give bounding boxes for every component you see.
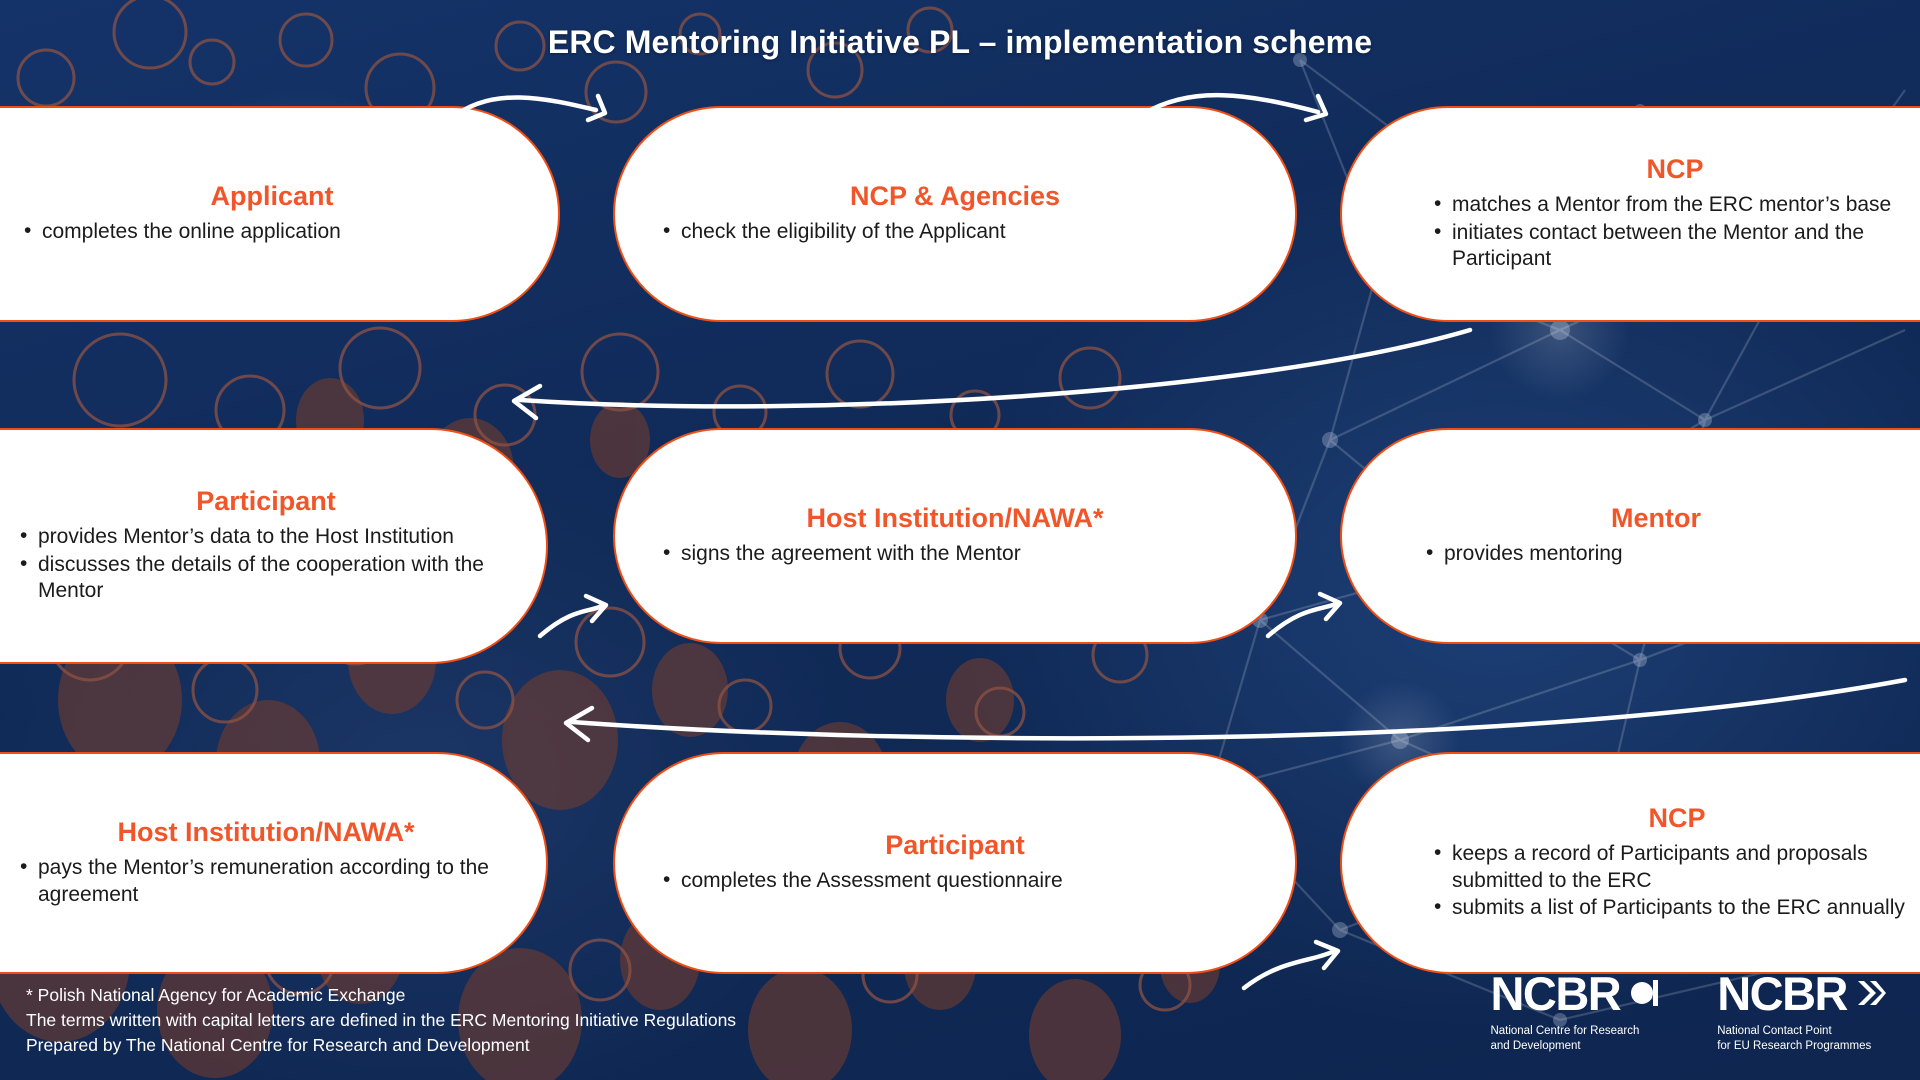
card-applicant[interactable]: Applicant completes the online applicati…: [0, 106, 560, 322]
card-ncp-record[interactable]: NCP keeps a record of Participants and p…: [1340, 752, 1920, 974]
card-heading: NCP: [1430, 803, 1920, 834]
card-bullets: signs the agreement with the Mentor: [659, 540, 1251, 569]
card-bullets: matches a Mentor from the ERC mentor’s b…: [1430, 191, 1920, 275]
card-heading: NCP & Agencies: [659, 181, 1251, 212]
bullet-item: check the eligibility of the Applicant: [659, 219, 1251, 246]
bullet-item: initiates contact between the Mentor and…: [1430, 220, 1920, 274]
wordmark: NCBR: [1717, 970, 1886, 1017]
logo-group: NCBR National Centre for Research and De…: [1490, 970, 1886, 1054]
bullet-item: matches a Mentor from the ERC mentor’s b…: [1430, 192, 1920, 219]
card-heading: Mentor: [1422, 503, 1890, 534]
bullet-item: completes the online application: [20, 219, 524, 246]
bullet-item: keeps a record of Participants and propo…: [1430, 841, 1920, 895]
logo-subtitle-line: for EU Research Programmes: [1717, 1039, 1886, 1054]
card-heading: NCP: [1430, 154, 1920, 185]
logo-ncbr-ncrd: NCBR National Centre for Research and De…: [1490, 970, 1659, 1054]
page-title: ERC Mentoring Initiative PL – implementa…: [0, 24, 1920, 61]
slide-canvas: ERC Mentoring Initiative PL – implementa…: [0, 0, 1920, 1080]
bullet-item: provides mentoring: [1422, 541, 1890, 568]
card-host-institution-pays[interactable]: Host Institution/NAWA* pays the Mentor’s…: [0, 752, 548, 974]
card-heading: Participant: [659, 830, 1251, 861]
footer-line: * Polish National Agency for Academic Ex…: [26, 983, 736, 1008]
bullet-item: signs the agreement with the Mentor: [659, 541, 1251, 568]
bullet-item: completes the Assessment questionnaire: [659, 868, 1251, 895]
logo-ncbr-ncp: NCBR National Contact Point for EU Resea…: [1717, 970, 1886, 1054]
logo-subtitle-line: and Development: [1490, 1039, 1659, 1054]
card-bullets: completes the online application: [20, 218, 524, 247]
logo-subtitle: National Contact Point for EU Research P…: [1717, 1024, 1886, 1054]
footer-line: The terms written with capital letters a…: [26, 1008, 736, 1033]
card-heading: Participant: [16, 486, 516, 517]
card-heading: Applicant: [20, 181, 524, 212]
card-bullets: keeps a record of Participants and propo…: [1430, 840, 1920, 924]
chevrons-icon: [1856, 976, 1886, 1010]
card-mentor[interactable]: Mentor provides mentoring: [1340, 428, 1920, 644]
card-participant-assessment[interactable]: Participant completes the Assessment que…: [613, 752, 1297, 974]
footer-notes: * Polish National Agency for Academic Ex…: [26, 983, 736, 1058]
bullet-item: submits a list of Participants to the ER…: [1430, 895, 1920, 922]
card-bullets: completes the Assessment questionnaire: [659, 867, 1251, 896]
card-host-institution-signs[interactable]: Host Institution/NAWA* signs the agreeme…: [613, 428, 1297, 644]
logo-subtitle-line: National Centre for Research: [1490, 1024, 1659, 1039]
bullet-item: discusses the details of the cooperation…: [16, 552, 516, 606]
logo-wordmark-text: NCBR: [1717, 970, 1847, 1017]
footer-line: Prepared by The National Centre for Rese…: [26, 1033, 736, 1058]
logo-subtitle-line: National Contact Point: [1717, 1024, 1886, 1039]
card-bullets: provides mentoring: [1422, 540, 1890, 569]
logo-subtitle: National Centre for Research and Develop…: [1490, 1024, 1659, 1054]
card-ncp-agencies[interactable]: NCP & Agencies check the eligibility of …: [613, 106, 1297, 322]
card-heading: Host Institution/NAWA*: [16, 817, 516, 848]
bullet-item: pays the Mentor’s remuneration according…: [16, 855, 516, 909]
card-bullets: pays the Mentor’s remuneration according…: [16, 854, 516, 910]
logo-wordmark-text: NCBR: [1490, 970, 1620, 1017]
card-bullets: provides Mentor’s data to the Host Insti…: [16, 523, 516, 607]
card-bullets: check the eligibility of the Applicant: [659, 218, 1251, 247]
card-participant-data[interactable]: Participant provides Mentor’s data to th…: [0, 428, 548, 664]
wordmark: NCBR: [1490, 970, 1659, 1017]
card-ncp-match[interactable]: NCP matches a Mentor from the ERC mentor…: [1340, 106, 1920, 322]
circle-bar-icon: [1629, 976, 1659, 1010]
card-heading: Host Institution/NAWA*: [659, 503, 1251, 534]
bullet-item: provides Mentor’s data to the Host Insti…: [16, 524, 516, 551]
